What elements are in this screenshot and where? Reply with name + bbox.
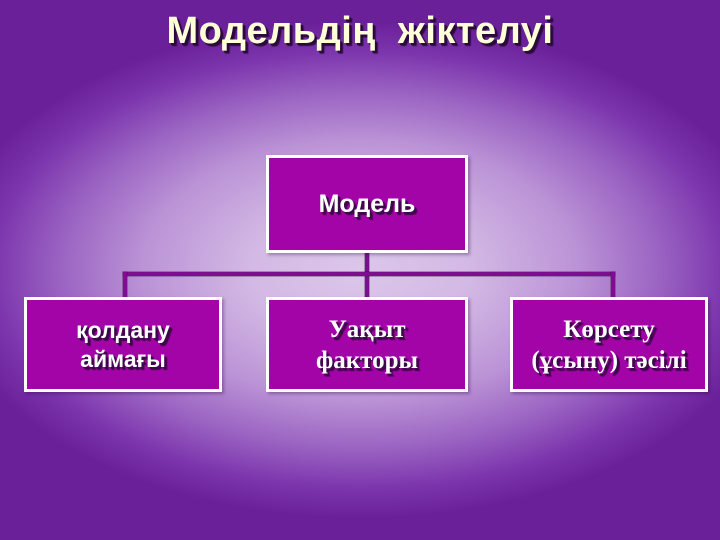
diagram-node-time-factor-label: Уақыт факторы (316, 314, 418, 376)
connector-branch-left (123, 272, 127, 299)
connector-branch-right (611, 272, 615, 299)
diagram-node-time-factor[interactable]: Уақыт факторы (266, 297, 468, 392)
diagram-node-root-label: Модель (319, 189, 416, 219)
slide-canvas: Модельдің жіктелуі Модель қолдану аймағы… (0, 0, 720, 540)
connector-root-stem (365, 253, 369, 299)
diagram-node-root[interactable]: Модель (266, 155, 468, 253)
diagram-node-usage-area[interactable]: қолдану аймағы (24, 297, 222, 392)
diagram-node-usage-area-label: қолдану аймағы (76, 316, 170, 374)
connector-horizontal-bar (123, 272, 615, 276)
diagram-node-presentation-method[interactable]: Көрсету (ұсыну) тәсілі (510, 297, 708, 392)
page-title: Модельдің жіктелуі (0, 8, 720, 54)
diagram-node-presentation-method-label: Көрсету (ұсыну) тәсілі (531, 314, 686, 376)
